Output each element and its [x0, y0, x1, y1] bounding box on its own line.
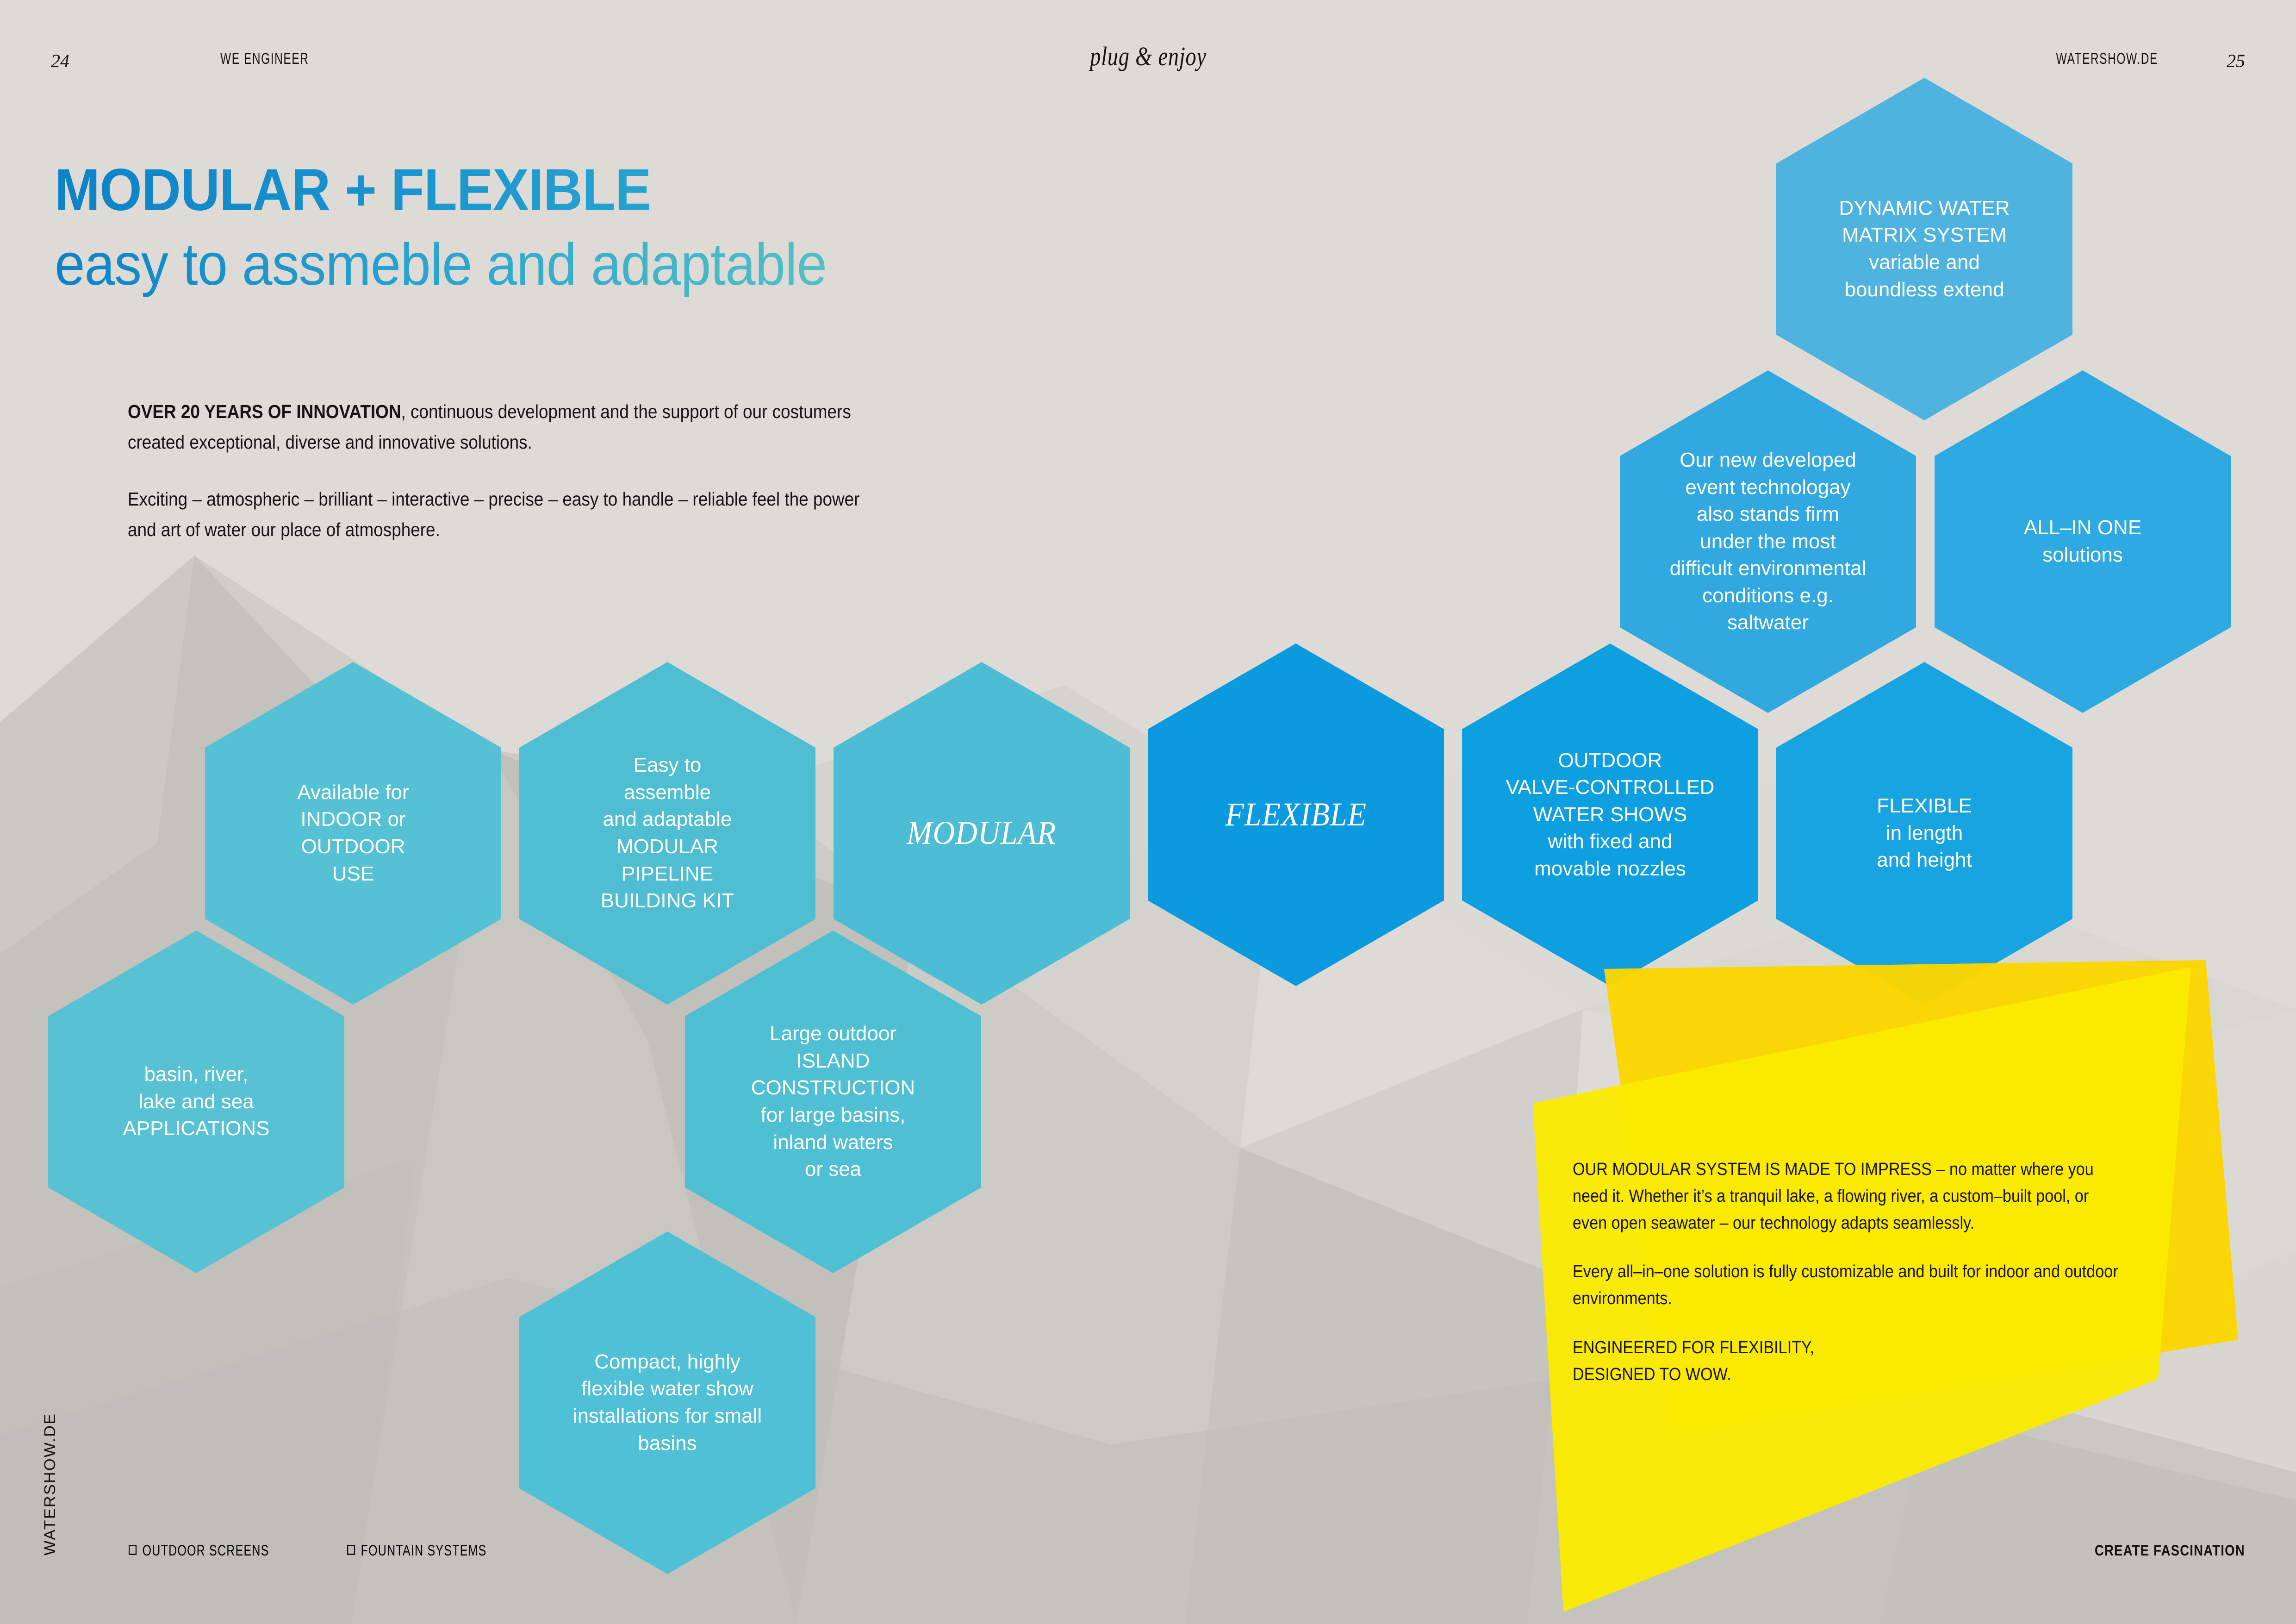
- running-header: 24 WE ENGINEER plug & enjoy WATERSHOW.DE…: [0, 0, 2296, 88]
- hexagon-compact-small-basins-lower: Compact, highlyflexible water showinstal…: [573, 1349, 762, 1457]
- intro-paragraph-2: Exciting – atmospheric – brilliant – int…: [128, 484, 867, 545]
- hexagon-flexible-length-height-lower: in lengthand height: [1877, 820, 1972, 874]
- brochure-spread: 24 WE ENGINEER plug & enjoy WATERSHOW.DE…: [0, 0, 2296, 1624]
- page-number-right: 25: [2227, 50, 2245, 72]
- intro-text: OVER 20 YEARS OF INNOVATION, continuous …: [128, 396, 868, 545]
- hexagon-all-in-one[interactable]: ALL–IN ONEsolutions: [1935, 370, 2231, 713]
- hexagon-island-construction-lower: Large outdoorISLANDCONSTRUCTIONfor large…: [751, 1020, 915, 1183]
- hexagon-event-technologay-lower: Our new developedevent technologayalso s…: [1670, 447, 1867, 637]
- callout-text: OUR MODULAR SYSTEM IS MADE TO IMPRESS – …: [1573, 1156, 2119, 1388]
- hexagon-flexible-length-height[interactable]: FLEXIBLEin lengthand height: [1776, 662, 2072, 1005]
- callout-paragraph-3: ENGINEERED FOR FLEXIBILITY, DESIGNED TO …: [1573, 1335, 2118, 1388]
- hexagon-dynamic-water-matrix-lower: variable andboundless extend: [1839, 249, 2010, 303]
- hexagon-flexible-title[interactable]: FLEXIBLE: [1148, 643, 1444, 986]
- hexagon-compact-small-basins[interactable]: Compact, highlyflexible water showinstal…: [519, 1231, 815, 1574]
- hexagon-all-in-one-upper: ALL–IN ONE: [2024, 514, 2141, 542]
- hexagon-modular-title[interactable]: MODULAR: [834, 662, 1130, 1005]
- hexagon-available-indoor-outdoor-lower: Available forINDOOR orOUTDOORUSE: [297, 779, 409, 887]
- hexagon-basin-river-lake-sea-lower: basin, river,lake and seaAPPLICATIONS: [123, 1061, 269, 1143]
- footer-slogan: CREATE FASCINATION: [2095, 1542, 2245, 1559]
- hexagon-island-construction[interactable]: Large outdoorISLANDCONSTRUCTIONfor large…: [685, 931, 981, 1273]
- hexagon-basin-river-lake-sea[interactable]: basin, river,lake and seaAPPLICATIONS: [48, 931, 344, 1273]
- header-tagline: plug & enjoy: [1090, 41, 1207, 72]
- headline-line-1: MODULAR + FLEXIBLE: [55, 153, 827, 227]
- hexagon-flexible-length-height-upper: FLEXIBLE: [1877, 793, 1972, 820]
- hexagon-flexible-title-label: FLEXIBLE: [1225, 793, 1366, 837]
- hexagon-available-indoor-outdoor[interactable]: Available forINDOOR orOUTDOORUSE: [205, 662, 501, 1005]
- header-label-right: WATERSHOW.DE: [2056, 50, 2158, 68]
- headline-line-2: easy to assmeble and adaptable: [55, 227, 827, 302]
- hexagon-dynamic-water-matrix-upper: DYNAMIC WATERMATRIX SYSTEM: [1839, 195, 2010, 249]
- hexagon-dynamic-water-matrix[interactable]: DYNAMIC WATERMATRIX SYSTEMvariable andbo…: [1776, 78, 2072, 420]
- callout-lead-in: OUR MODULAR SYSTEM IS MADE TO IMPRESS: [1573, 1160, 1932, 1179]
- footer-vertical-url: WATERSHOW.DE: [41, 1413, 59, 1555]
- callout-paragraph-2: Every all–in–one solution is fully custo…: [1573, 1259, 2118, 1312]
- page-number-left: 24: [51, 50, 69, 72]
- hexagon-outdoor-valve-controlled-lower: OUTDOORVALVE-CONTROLLEDWATER SHOWSwith f…: [1506, 747, 1715, 883]
- hexagon-modular-pipeline-building-kit-lower: Easy toassembleand adaptableMODULARPIPEL…: [601, 752, 734, 914]
- intro-lead-in: OVER 20 YEARS OF INNOVATION: [128, 401, 401, 422]
- hexagon-all-in-one-lower: solutions: [2024, 542, 2141, 569]
- page-title: MODULAR + FLEXIBLE easy to assmeble and …: [55, 153, 894, 302]
- hexagon-modular-title-label: MODULAR: [907, 811, 1057, 856]
- hexagon-outdoor-valve-controlled[interactable]: OUTDOORVALVE-CONTROLLEDWATER SHOWSwith f…: [1462, 643, 1758, 986]
- callout-paragraph-1: OUR MODULAR SYSTEM IS MADE TO IMPRESS – …: [1573, 1156, 2118, 1237]
- hexagon-event-technologay[interactable]: Our new developedevent technologayalso s…: [1620, 370, 1916, 713]
- header-label-left: WE ENGINEER: [220, 50, 309, 68]
- intro-paragraph-1: OVER 20 YEARS OF INNOVATION, continuous …: [128, 396, 867, 458]
- hexagon-modular-pipeline-building-kit[interactable]: Easy toassembleand adaptableMODULARPIPEL…: [519, 662, 815, 1005]
